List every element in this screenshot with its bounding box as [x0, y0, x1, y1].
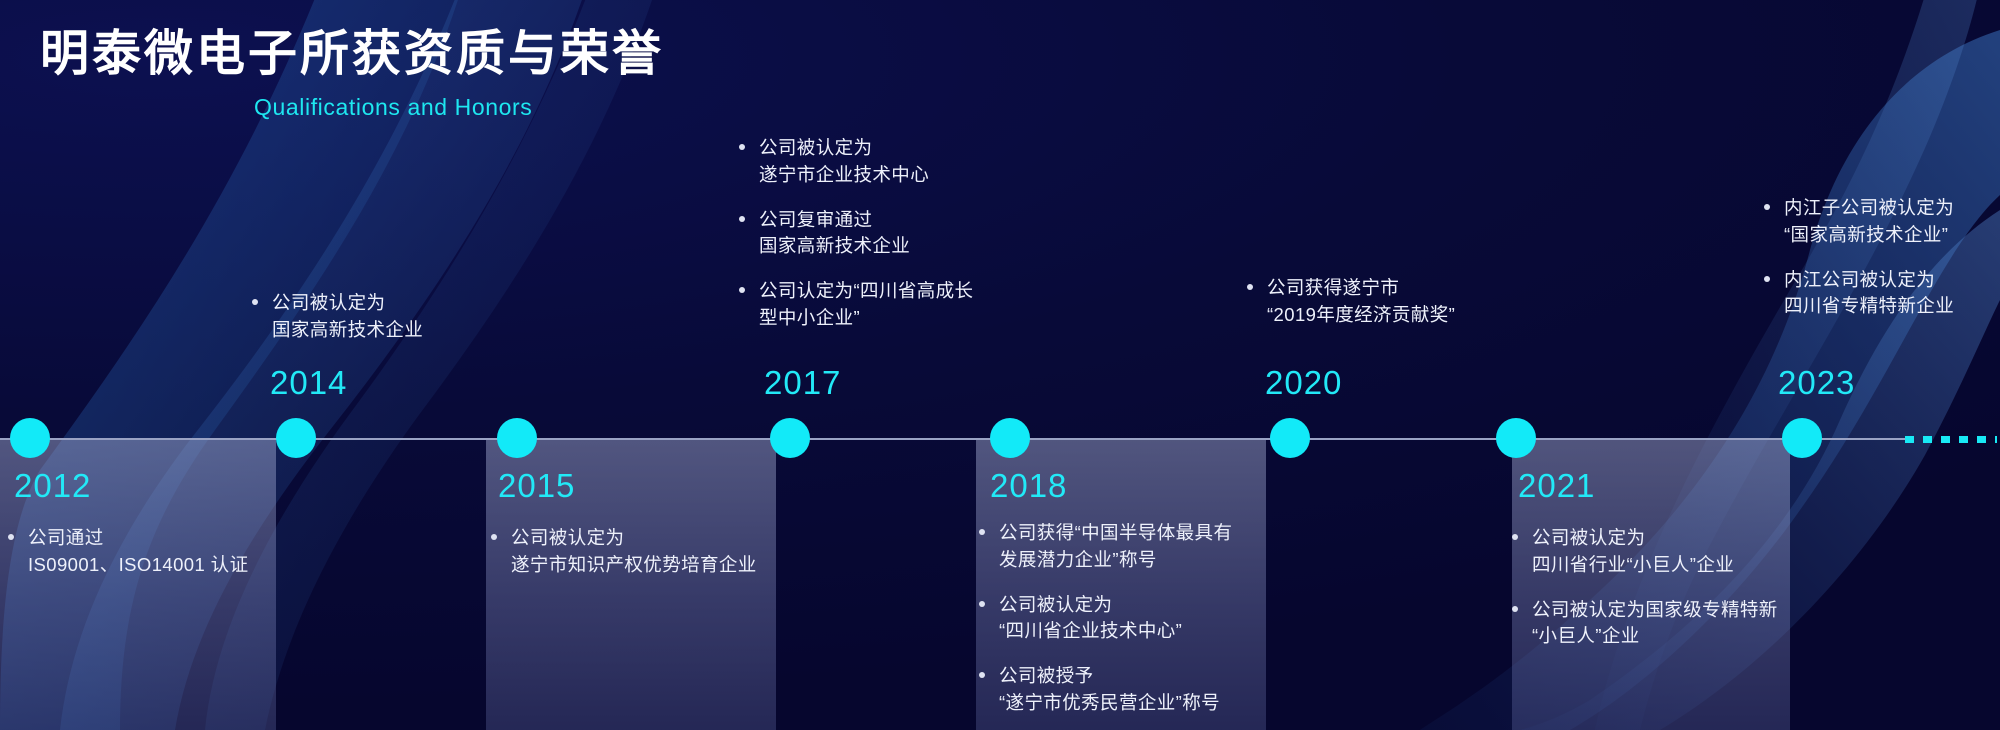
timeline-node-2012[interactable] [10, 418, 50, 458]
timeline-node-2020[interactable] [1270, 418, 1310, 458]
timeline-node-2017[interactable] [770, 418, 810, 458]
page-subtitle: Qualifications and Honors [254, 94, 664, 121]
entry-2021-bullets: 公司被认定为 四川省行业“小巨人”企业 公司被认定为国家级专精特新 “小巨人”企… [1508, 525, 1808, 650]
bullet-item: 公司认定为“四川省高成长 型中小企业” [735, 278, 1025, 332]
timeline-node-2021[interactable] [1496, 418, 1536, 458]
bullet-item: 公司被授予 “遂宁市优秀民营企业”称号 [975, 663, 1265, 717]
timeline-node-2023[interactable] [1782, 418, 1822, 458]
bullet-item: 公司被认定为 “四川省企业技术中心” [975, 592, 1265, 646]
bullet-item: 内江子公司被认定为 “国家高新技术企业” [1760, 195, 2000, 249]
entry-2017-bullets: 公司被认定为 遂宁市企业技术中心 公司复审通过 国家高新技术企业 公司认定为“四… [735, 135, 1025, 332]
bullet-item: 公司通过 IS09001、ISO14001 认证 [4, 525, 289, 579]
year-label-2023: 2023 [1778, 364, 1855, 402]
bullet-item: 公司被认定为国家级专精特新 “小巨人”企业 [1508, 597, 1808, 651]
bullet-item: 公司复审通过 国家高新技术企业 [735, 207, 1025, 261]
entry-2020-bullets: 公司获得遂宁市 “2019年度经济贡献奖” [1243, 275, 1533, 329]
year-label-2012: 2012 [14, 467, 91, 505]
year-label-2020: 2020 [1265, 364, 1342, 402]
timeline-node-2015[interactable] [497, 418, 537, 458]
year-label-2017: 2017 [764, 364, 841, 402]
entry-2023-bullets: 内江子公司被认定为 “国家高新技术企业” 内江公司被认定为 四川省专精特新企业 [1760, 195, 2000, 320]
year-label-2014: 2014 [270, 364, 347, 402]
entry-2012-bullets: 公司通过 IS09001、ISO14001 认证 [4, 525, 289, 579]
bullet-item: 公司被认定为 遂宁市企业技术中心 [735, 135, 1025, 189]
bullet-item: 内江公司被认定为 四川省专精特新企业 [1760, 267, 2000, 321]
year-label-2018: 2018 [990, 467, 1067, 505]
header: 明泰微电子所获资质与荣誉 Qualifications and Honors [40, 28, 664, 121]
timeline-node-2018[interactable] [990, 418, 1030, 458]
entry-2014-bullets: 公司被认定为 国家高新技术企业 [248, 290, 518, 344]
slide-canvas: 明泰微电子所获资质与荣誉 Qualifications and Honors 公… [0, 0, 2000, 730]
year-label-2015: 2015 [498, 467, 575, 505]
bullet-item: 公司被认定为 四川省行业“小巨人”企业 [1508, 525, 1808, 579]
year-label-2021: 2021 [1518, 467, 1595, 505]
entry-2018-bullets: 公司获得“中国半导体最具有 发展潜力企业”称号 公司被认定为 “四川省企业技术中… [975, 520, 1265, 717]
timeline-node-2014[interactable] [276, 418, 316, 458]
page-title: 明泰微电子所获资质与荣誉 [40, 28, 664, 82]
bullet-item: 公司获得遂宁市 “2019年度经济贡献奖” [1243, 275, 1533, 329]
bullet-item: 公司获得“中国半导体最具有 发展潜力企业”称号 [975, 520, 1265, 574]
timeline-axis-dashed-end [1905, 436, 1997, 443]
entry-2015-bullets: 公司被认定为 遂宁市知识产权优势培育企业 [487, 525, 759, 579]
bullet-item: 公司被认定为 国家高新技术企业 [248, 290, 518, 344]
bullet-item: 公司被认定为 遂宁市知识产权优势培育企业 [487, 525, 759, 579]
